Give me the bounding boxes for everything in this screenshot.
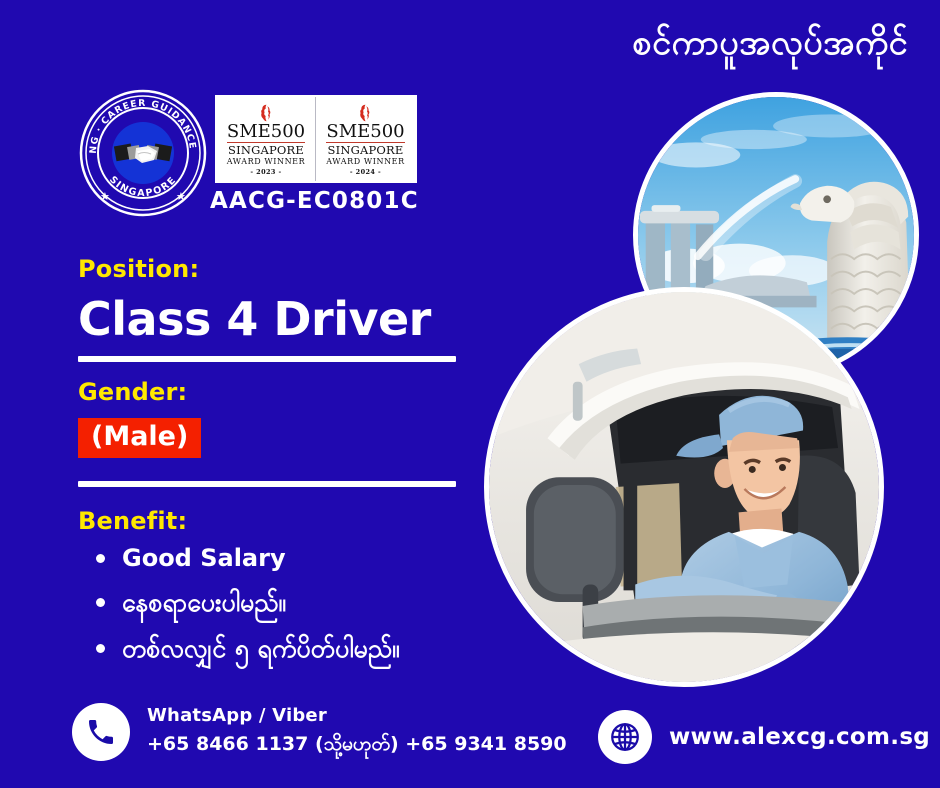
contact-website-block[interactable]: www.alexcg.com.sg [598, 710, 930, 764]
driver-photo [484, 287, 884, 687]
company-seal-logo: ALEX AUNG · CAREER GUIDANCE SERVICE SING… [78, 88, 208, 218]
award-name: SME500 [227, 123, 305, 143]
svg-text:★: ★ [100, 190, 110, 203]
contact-phone-block[interactable]: WhatsApp / Viber +65 8466 1137 (သို့မဟုတ… [72, 703, 567, 761]
phone-glyph-icon [85, 716, 117, 748]
benefit-item: နေစရာပေးပါမည်။ [92, 587, 400, 620]
lion-head-icon [358, 104, 373, 122]
driver-image [489, 292, 879, 682]
award-country: SINGAPORE [228, 143, 304, 157]
position-value: Class 4 Driver [78, 295, 431, 343]
award-country: SINGAPORE [328, 143, 404, 157]
contact-website-text: www.alexcg.com.sg [669, 724, 930, 750]
lion-head-icon [259, 104, 274, 122]
handshake-seal-icon: ALEX AUNG · CAREER GUIDANCE SERVICE SING… [78, 88, 208, 218]
benefit-item: Good Salary [92, 543, 400, 574]
gender-value-badge: (Male) [78, 418, 201, 458]
award-year: - 2023 - [250, 168, 281, 176]
contact-phone-numbers: +65 8466 1137 (သို့မဟုတ်) +65 9341 8590 [147, 732, 567, 760]
globe-icon [598, 710, 652, 764]
bullet-icon [96, 554, 105, 563]
bullet-icon [96, 598, 105, 607]
award-badge: SME500 SINGAPORE AWARD WINNER - 2024 - [316, 97, 415, 181]
section-divider [78, 356, 456, 362]
award-badge: SME500 SINGAPORE AWARD WINNER - 2023 - [217, 97, 316, 181]
contact-channels-label: WhatsApp / Viber [147, 705, 567, 726]
position-label: Position: [78, 255, 199, 283]
award-year: - 2024 - [350, 168, 381, 176]
benefit-text: နေစရာပေးပါမည်။ [122, 588, 286, 617]
section-divider [78, 481, 456, 487]
website-url[interactable]: www.alexcg.com.sg [669, 724, 930, 750]
award-caption: AWARD WINNER [227, 157, 305, 167]
bullet-icon [96, 644, 105, 653]
award-badges: SME500 SINGAPORE AWARD WINNER - 2023 - S… [215, 95, 417, 183]
poster-title-mm: စင်ကာပူအလုပ်အကိုင် [633, 22, 908, 65]
job-poster: စင်ကာပူအလုပ်အကိုင် ALEX AUNG · CAREER GU… [0, 0, 940, 788]
benefit-item: တစ်လလျှင် ၅ ရက်ပိတ်ပါမည်။ [92, 633, 400, 666]
benefit-list: Good Salary နေစရာပေးပါမည်။ တစ်လလျှင် ၅ ရ… [92, 543, 400, 678]
benefit-text: Good Salary [122, 544, 286, 572]
phone-icon [72, 703, 130, 761]
award-caption: AWARD WINNER [326, 157, 404, 167]
globe-glyph-icon [608, 720, 642, 754]
svg-text:★: ★ [176, 190, 186, 203]
benefit-text: တစ်လလျှင် ၅ ရက်ပိတ်ပါမည်။ [122, 634, 400, 663]
gender-label: Gender: [78, 378, 187, 406]
license-number: AACG-EC0801C [210, 188, 419, 214]
contact-phone-text: WhatsApp / Viber +65 8466 1137 (သို့မဟုတ… [147, 705, 567, 760]
award-name: SME500 [326, 123, 404, 143]
benefit-label: Benefit: [78, 507, 187, 535]
